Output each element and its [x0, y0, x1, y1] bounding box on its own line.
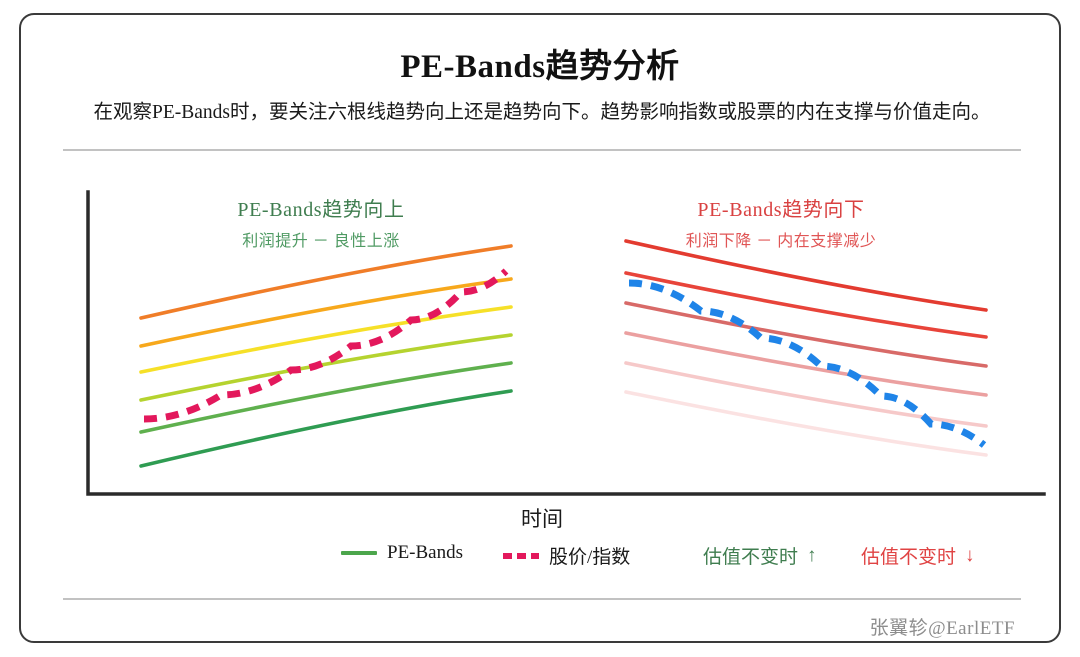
chart-legend: PE-Bands 股价/指数 估值不变时 ↑ 估值不变时 ↓ [21, 542, 1063, 576]
divider-bottom [63, 598, 1021, 600]
panel-heading-down-subtitle: 利润下降 － 内在支撑减少 [631, 227, 931, 251]
legend-label-price: 股价/指数 [549, 542, 630, 569]
panel-heading-down: PE-Bands趋势向下 利润下降 － 内在支撑减少 [631, 193, 931, 251]
price-line-dashed [144, 271, 506, 419]
band-6-dark-green [141, 391, 511, 466]
band-2-red [626, 273, 986, 337]
legend-item-valuation-down: 估值不变时 ↓ [861, 542, 975, 569]
band-1-orange [141, 246, 511, 318]
page-title: PE-Bands趋势分析 [21, 39, 1059, 87]
divider-top [63, 149, 1021, 151]
legend-label-valuation-up: 估值不变时 [703, 542, 798, 569]
band-4-yellow-green [141, 335, 511, 400]
dashed-line-swatch-icon [503, 553, 539, 559]
band-5-green [141, 363, 511, 432]
band-3-red-mid [626, 303, 986, 366]
panel-up-bands [141, 246, 511, 466]
legend-item-pe-bands: PE-Bands [341, 542, 463, 564]
arrow-down-icon: ↓ [965, 546, 975, 565]
panel-down-price-line [629, 283, 984, 445]
panel-heading-up-subtitle: 利润提升 － 良性上涨 [171, 227, 471, 251]
chart-card: PE-Bands趋势分析 在观察PE-Bands时，要关注六根线趋势向上还是趋势… [19, 13, 1061, 643]
arrow-up-icon: ↑ [807, 546, 817, 565]
band-4-pink [626, 333, 986, 395]
legend-label-valuation-down: 估值不变时 [861, 542, 956, 569]
band-1-red [626, 241, 986, 310]
legend-item-price: 股价/指数 [503, 542, 630, 569]
band-6-lightest [626, 392, 986, 455]
page-subtitle: 在观察PE-Bands时，要关注六根线趋势向上还是趋势向下。趋势影响指数或股票的… [63, 95, 1021, 124]
price-line-dashed [629, 283, 984, 445]
band-2-amber [141, 279, 511, 346]
band-5-pale-pink [626, 363, 986, 426]
panel-heading-down-title: PE-Bands趋势向下 [631, 193, 931, 222]
band-3-yellow [141, 307, 511, 372]
panel-heading-up-title: PE-Bands趋势向上 [171, 193, 471, 222]
legend-label-pe-bands: PE-Bands [387, 542, 463, 564]
panel-heading-up: PE-Bands趋势向上 利润提升 － 良性上涨 [171, 193, 471, 251]
panel-down-bands [626, 241, 986, 455]
legend-item-valuation-up: 估值不变时 ↑ [703, 542, 817, 569]
footer-credit: 张翼轸@EarlETF [870, 613, 1015, 640]
panel-up-price-line [144, 271, 506, 419]
solid-line-swatch-icon [341, 551, 377, 555]
x-axis-label: 时间 [21, 503, 1063, 533]
